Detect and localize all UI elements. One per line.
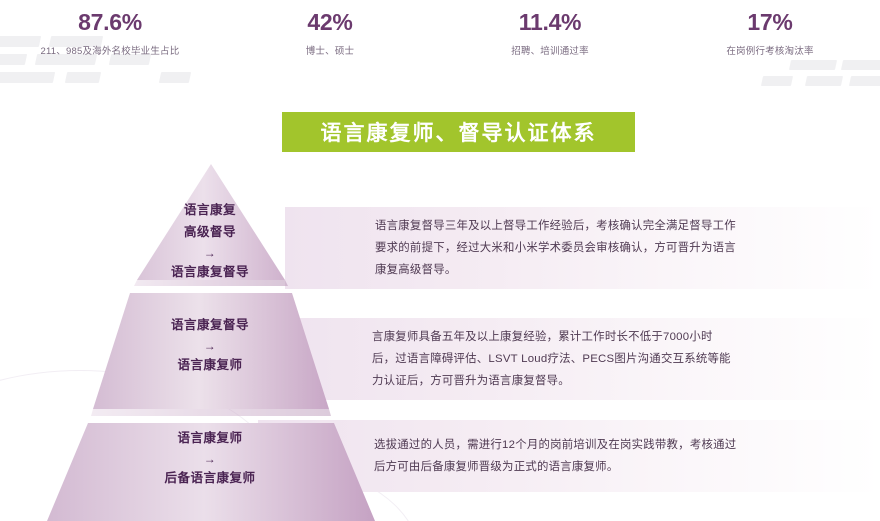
pyramid-tier-top bbox=[137, 164, 285, 280]
pyramid-tier-middle-band bbox=[91, 409, 331, 416]
pyramid-svg bbox=[35, 160, 390, 521]
pyramid-tier-bottom bbox=[47, 423, 375, 521]
stat-label: 211、985及海外名校毕业生占比 bbox=[41, 43, 180, 57]
stat-value: 87.6% bbox=[78, 10, 142, 35]
stat-item: 87.6% 211、985及海外名校毕业生占比 bbox=[0, 0, 220, 72]
stat-value: 42% bbox=[307, 10, 352, 35]
tier-description-text: 选拔通过的人员，需进行12个月的岗前培训及在岗实践带教，考核通过 后方可由后备康… bbox=[374, 434, 774, 478]
pyramid-tier-top-band bbox=[134, 280, 288, 286]
deco-dash bbox=[849, 76, 880, 86]
pyramid-tier-middle bbox=[93, 293, 329, 409]
deco-dash bbox=[0, 72, 55, 83]
deco-dash bbox=[65, 72, 101, 83]
stat-label: 招聘、培训通过率 bbox=[511, 43, 589, 57]
pyramid-diagram bbox=[35, 160, 390, 521]
stat-label: 在岗例行考核淘汰率 bbox=[726, 43, 813, 57]
section-title-banner: 语言康复师、督导认证体系 bbox=[282, 112, 635, 152]
stat-item: 11.4% 招聘、培训通过率 bbox=[440, 0, 660, 72]
section-title-text: 语言康复师、督导认证体系 bbox=[321, 117, 597, 147]
stat-value: 17% bbox=[747, 10, 792, 35]
slide-page: 87.6% 211、985及海外名校毕业生占比 42% 博士、硕士 11.4% … bbox=[0, 0, 880, 521]
deco-dash bbox=[761, 76, 793, 86]
stat-label: 博士、硕士 bbox=[306, 43, 355, 57]
deco-dash bbox=[159, 72, 191, 83]
deco-dash bbox=[805, 76, 843, 86]
stat-value: 11.4% bbox=[519, 10, 581, 35]
tier-description-text: 语言康复督导三年及以上督导工作经验后，考核确认完全满足督导工作 要求的前提下，经… bbox=[375, 215, 765, 282]
stat-item: 17% 在岗例行考核淘汰率 bbox=[660, 0, 880, 72]
statistics-row: 87.6% 211、985及海外名校毕业生占比 42% 博士、硕士 11.4% … bbox=[0, 0, 880, 72]
stat-item: 42% 博士、硕士 bbox=[220, 0, 440, 72]
tier-description-text: 言康复师具备五年及以上康复经验，累计工作时长不低于7000小时 后，过语言障碍评… bbox=[372, 326, 767, 393]
